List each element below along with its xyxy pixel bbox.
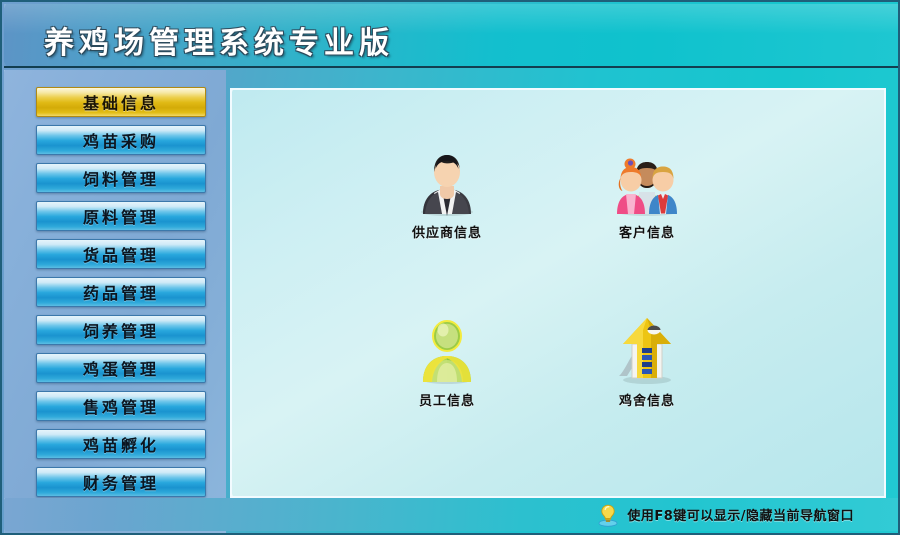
sidebar-item-feed-management[interactable]: 饲料管理	[36, 163, 206, 193]
sidebar-item-basic-info[interactable]: 基础信息	[36, 87, 206, 117]
sidebar-item-chicken-sales-management[interactable]: 售鸡管理	[36, 391, 206, 421]
sidebar-item-label: 财务管理	[83, 470, 159, 494]
green-person-icon	[411, 310, 483, 384]
sidebar-item-label: 基础信息	[83, 90, 159, 114]
status-bar: 使用F8键可以显示/隐藏当前导航窗口	[4, 498, 898, 531]
tile-label: 鸡舍信息	[619, 390, 675, 409]
sidebar-item-label: 原料管理	[83, 204, 159, 228]
people-group-icon	[611, 142, 683, 216]
sidebar-item-finance-management[interactable]: 财务管理	[36, 467, 206, 497]
sidebar-item-raw-material-management[interactable]: 原料管理	[36, 201, 206, 231]
sidebar-item-label: 药品管理	[83, 280, 159, 304]
tile-label: 客户信息	[619, 222, 675, 241]
sidebar-item-label: 货品管理	[83, 242, 159, 266]
sidebar-item-label: 鸡苗采购	[83, 128, 159, 152]
status-hint-text: 使用F8键可以显示/隐藏当前导航窗口	[627, 505, 854, 524]
sidebar-item-label: 饲养管理	[83, 318, 159, 342]
tile-label: 员工信息	[419, 390, 475, 409]
sidebar-item-chick-incubation[interactable]: 鸡苗孵化	[36, 429, 206, 459]
sidebar-item-label: 售鸡管理	[83, 394, 159, 418]
tile-employee-info[interactable]: 员工信息	[372, 310, 522, 422]
sidebar-item-label: 鸡蛋管理	[83, 356, 159, 380]
navigation-sidebar: 基础信息鸡苗采购饲料管理原料管理货品管理药品管理饲养管理鸡蛋管理售鸡管理鸡苗孵化…	[4, 70, 226, 533]
page-title: 养鸡场管理系统专业版	[44, 18, 394, 62]
tile-customer-info[interactable]: 客户信息	[572, 142, 722, 254]
tile-label: 供应商信息	[412, 222, 482, 241]
house-icon	[611, 310, 683, 384]
application-window: 养鸡场管理系统专业版 基础信息鸡苗采购饲料管理原料管理货品管理药品管理饲养管理鸡…	[0, 0, 900, 535]
sidebar-item-goods-management[interactable]: 货品管理	[36, 239, 206, 269]
main-content-panel: 供应商信息 客户信息	[230, 88, 886, 498]
app-header: 养鸡场管理系统专业版	[4, 4, 898, 68]
status-hint: 使用F8键可以显示/隐藏当前导航窗口	[597, 498, 854, 531]
lightbulb-icon	[597, 503, 619, 527]
tile-supplier-info[interactable]: 供应商信息	[372, 142, 522, 254]
sidebar-item-label: 鸡苗孵化	[83, 432, 159, 456]
sidebar-item-rearing-management[interactable]: 饲养管理	[36, 315, 206, 345]
sidebar-item-chick-purchase[interactable]: 鸡苗采购	[36, 125, 206, 155]
sidebar-item-medicine-management[interactable]: 药品管理	[36, 277, 206, 307]
tile-coop-info[interactable]: 鸡舍信息	[572, 310, 722, 422]
businessman-icon	[411, 142, 483, 216]
sidebar-item-label: 饲料管理	[83, 166, 159, 190]
sidebar-item-egg-management[interactable]: 鸡蛋管理	[36, 353, 206, 383]
